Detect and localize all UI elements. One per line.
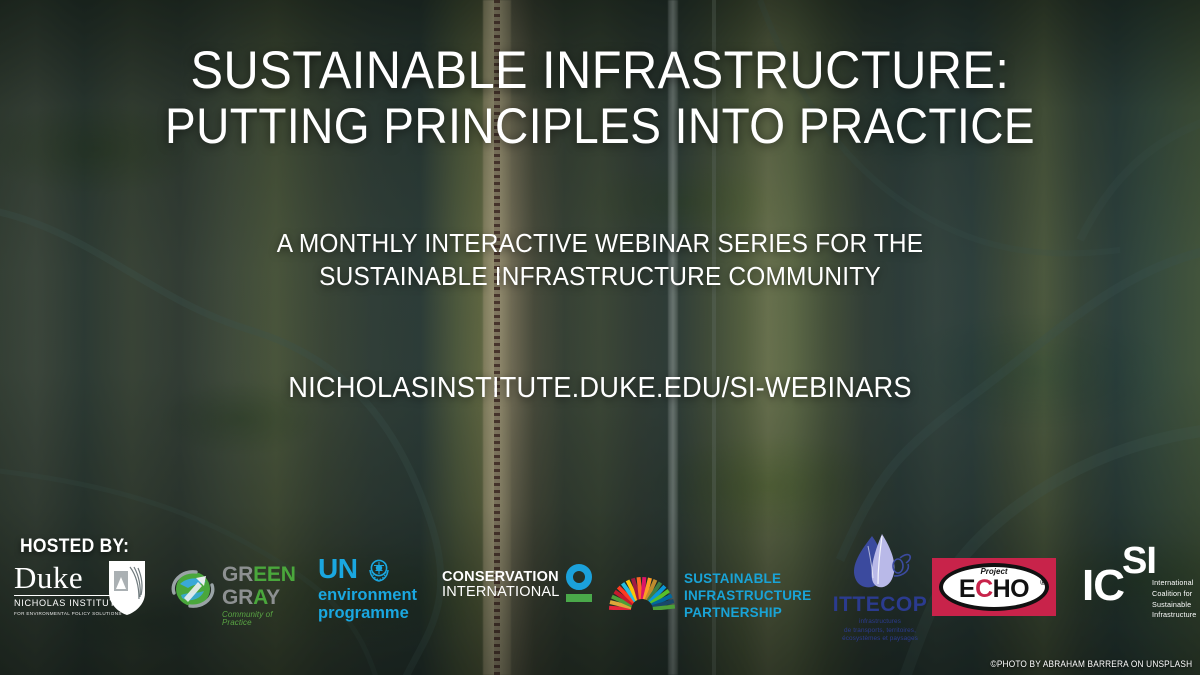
title-line-1: SUSTAINABLE INFRASTRUCTURE: (48, 44, 1152, 98)
logo-un-environment-programme: UN environment programme (318, 556, 430, 624)
ittecop-tagline: infrastructures de transports, territoir… (828, 618, 932, 644)
sip-wordmark: SUSTAINABLE INFRASTRUCTURE PARTNERSHIP (684, 570, 811, 621)
duke-divider-rule (14, 595, 112, 596)
title-line-2: PUTTING PRINCIPLES INTO PRACTICE (48, 100, 1152, 153)
logo-project-echo: Project ECHO ® (932, 558, 1056, 616)
ittecop-tagline-line-3: écosystèmes et paysages (828, 635, 932, 644)
un-abbreviation: UN (318, 556, 357, 582)
icsi-si-mark: SI (1122, 544, 1156, 578)
icsi-sub-line-2: Coalition for (1152, 589, 1196, 600)
logo-sustainable-infrastructure-partnership: SUSTAINABLE INFRASTRUCTURE PARTNERSHIP (608, 560, 798, 620)
ittecop-tagline-line-1: infrastructures (828, 618, 932, 627)
un-emblem-icon (366, 557, 392, 583)
slide-title: SUSTAINABLE INFRASTRUCTURE: PUTTING PRIN… (0, 44, 1200, 153)
duke-shield-icon (106, 559, 148, 617)
ittecop-tagline-line-2: de transports, territoires, (828, 627, 932, 636)
icsi-full-name: International Coalition for Sustainable … (1152, 578, 1196, 621)
logo-ittecop: ITTECOP infrastructures de transports, t… (828, 532, 932, 638)
un-line-environment: environment (318, 586, 430, 604)
ci-line-2: INTERNATIONAL (442, 585, 560, 600)
sdg-color-fan-icon (608, 574, 676, 610)
green-gray-line-2: GRAY (222, 587, 296, 608)
subtitle-line-1: A MONTHLY INTERACTIVE WEBINAR SERIES FOR… (36, 227, 1164, 260)
sip-line-2: INFRASTRUCTURE (684, 587, 811, 604)
un-line-programme: programme (318, 604, 430, 622)
icsi-sub-line-3: Sustainable (1152, 600, 1196, 611)
logo-duke-nicholas-institute: Duke NICHOLAS INSTITUTE FOR ENVIRONMENTA… (14, 562, 146, 622)
sip-line-3: PARTNERSHIP (684, 604, 811, 621)
echo-wordmark: ECHO (932, 575, 1056, 603)
green-gray-line-1: GREEN (222, 564, 296, 585)
icsi-sub-line-4: Infrastructure (1152, 610, 1196, 621)
sip-line-1: SUSTAINABLE (684, 570, 811, 587)
ci-line-1: CONSERVATION (442, 570, 560, 585)
icsi-sub-line-1: International (1152, 578, 1196, 589)
photo-credit: ©PHOTO BY ABRAHAM BARRERA ON UNSPLASH (990, 659, 1192, 669)
green-gray-globe-icon (168, 564, 218, 614)
subtitle-line-2: SUSTAINABLE INFRASTRUCTURE COMMUNITY (36, 260, 1164, 293)
logo-green-gray-community-of-practice: GREEN GRAY Community of Practice (168, 560, 296, 618)
logo-conservation-international: CONSERVATION INTERNATIONAL (442, 568, 602, 614)
webinar-promo-slide: SUSTAINABLE INFRASTRUCTURE: PUTTING PRIN… (0, 0, 1200, 675)
conservation-international-mark-icon (566, 564, 592, 602)
webinar-url[interactable]: NICHOLASINSTITUTE.DUKE.EDU/SI-WEBINARS (36, 372, 1164, 405)
ittecop-leaf-butterfly-icon (828, 532, 932, 594)
hosted-by-label: HOSTED BY: (20, 536, 129, 558)
ittecop-wordmark: ITTECOP (828, 594, 932, 615)
logo-icsi: IC SI International Coalition for Sustai… (1082, 544, 1194, 628)
echo-registered-mark: ® (1040, 578, 1046, 587)
icsi-ic-mark: IC (1082, 566, 1124, 606)
green-gray-tagline: Community of Practice (222, 611, 296, 627)
slide-subtitle: A MONTHLY INTERACTIVE WEBINAR SERIES FOR… (0, 227, 1200, 294)
